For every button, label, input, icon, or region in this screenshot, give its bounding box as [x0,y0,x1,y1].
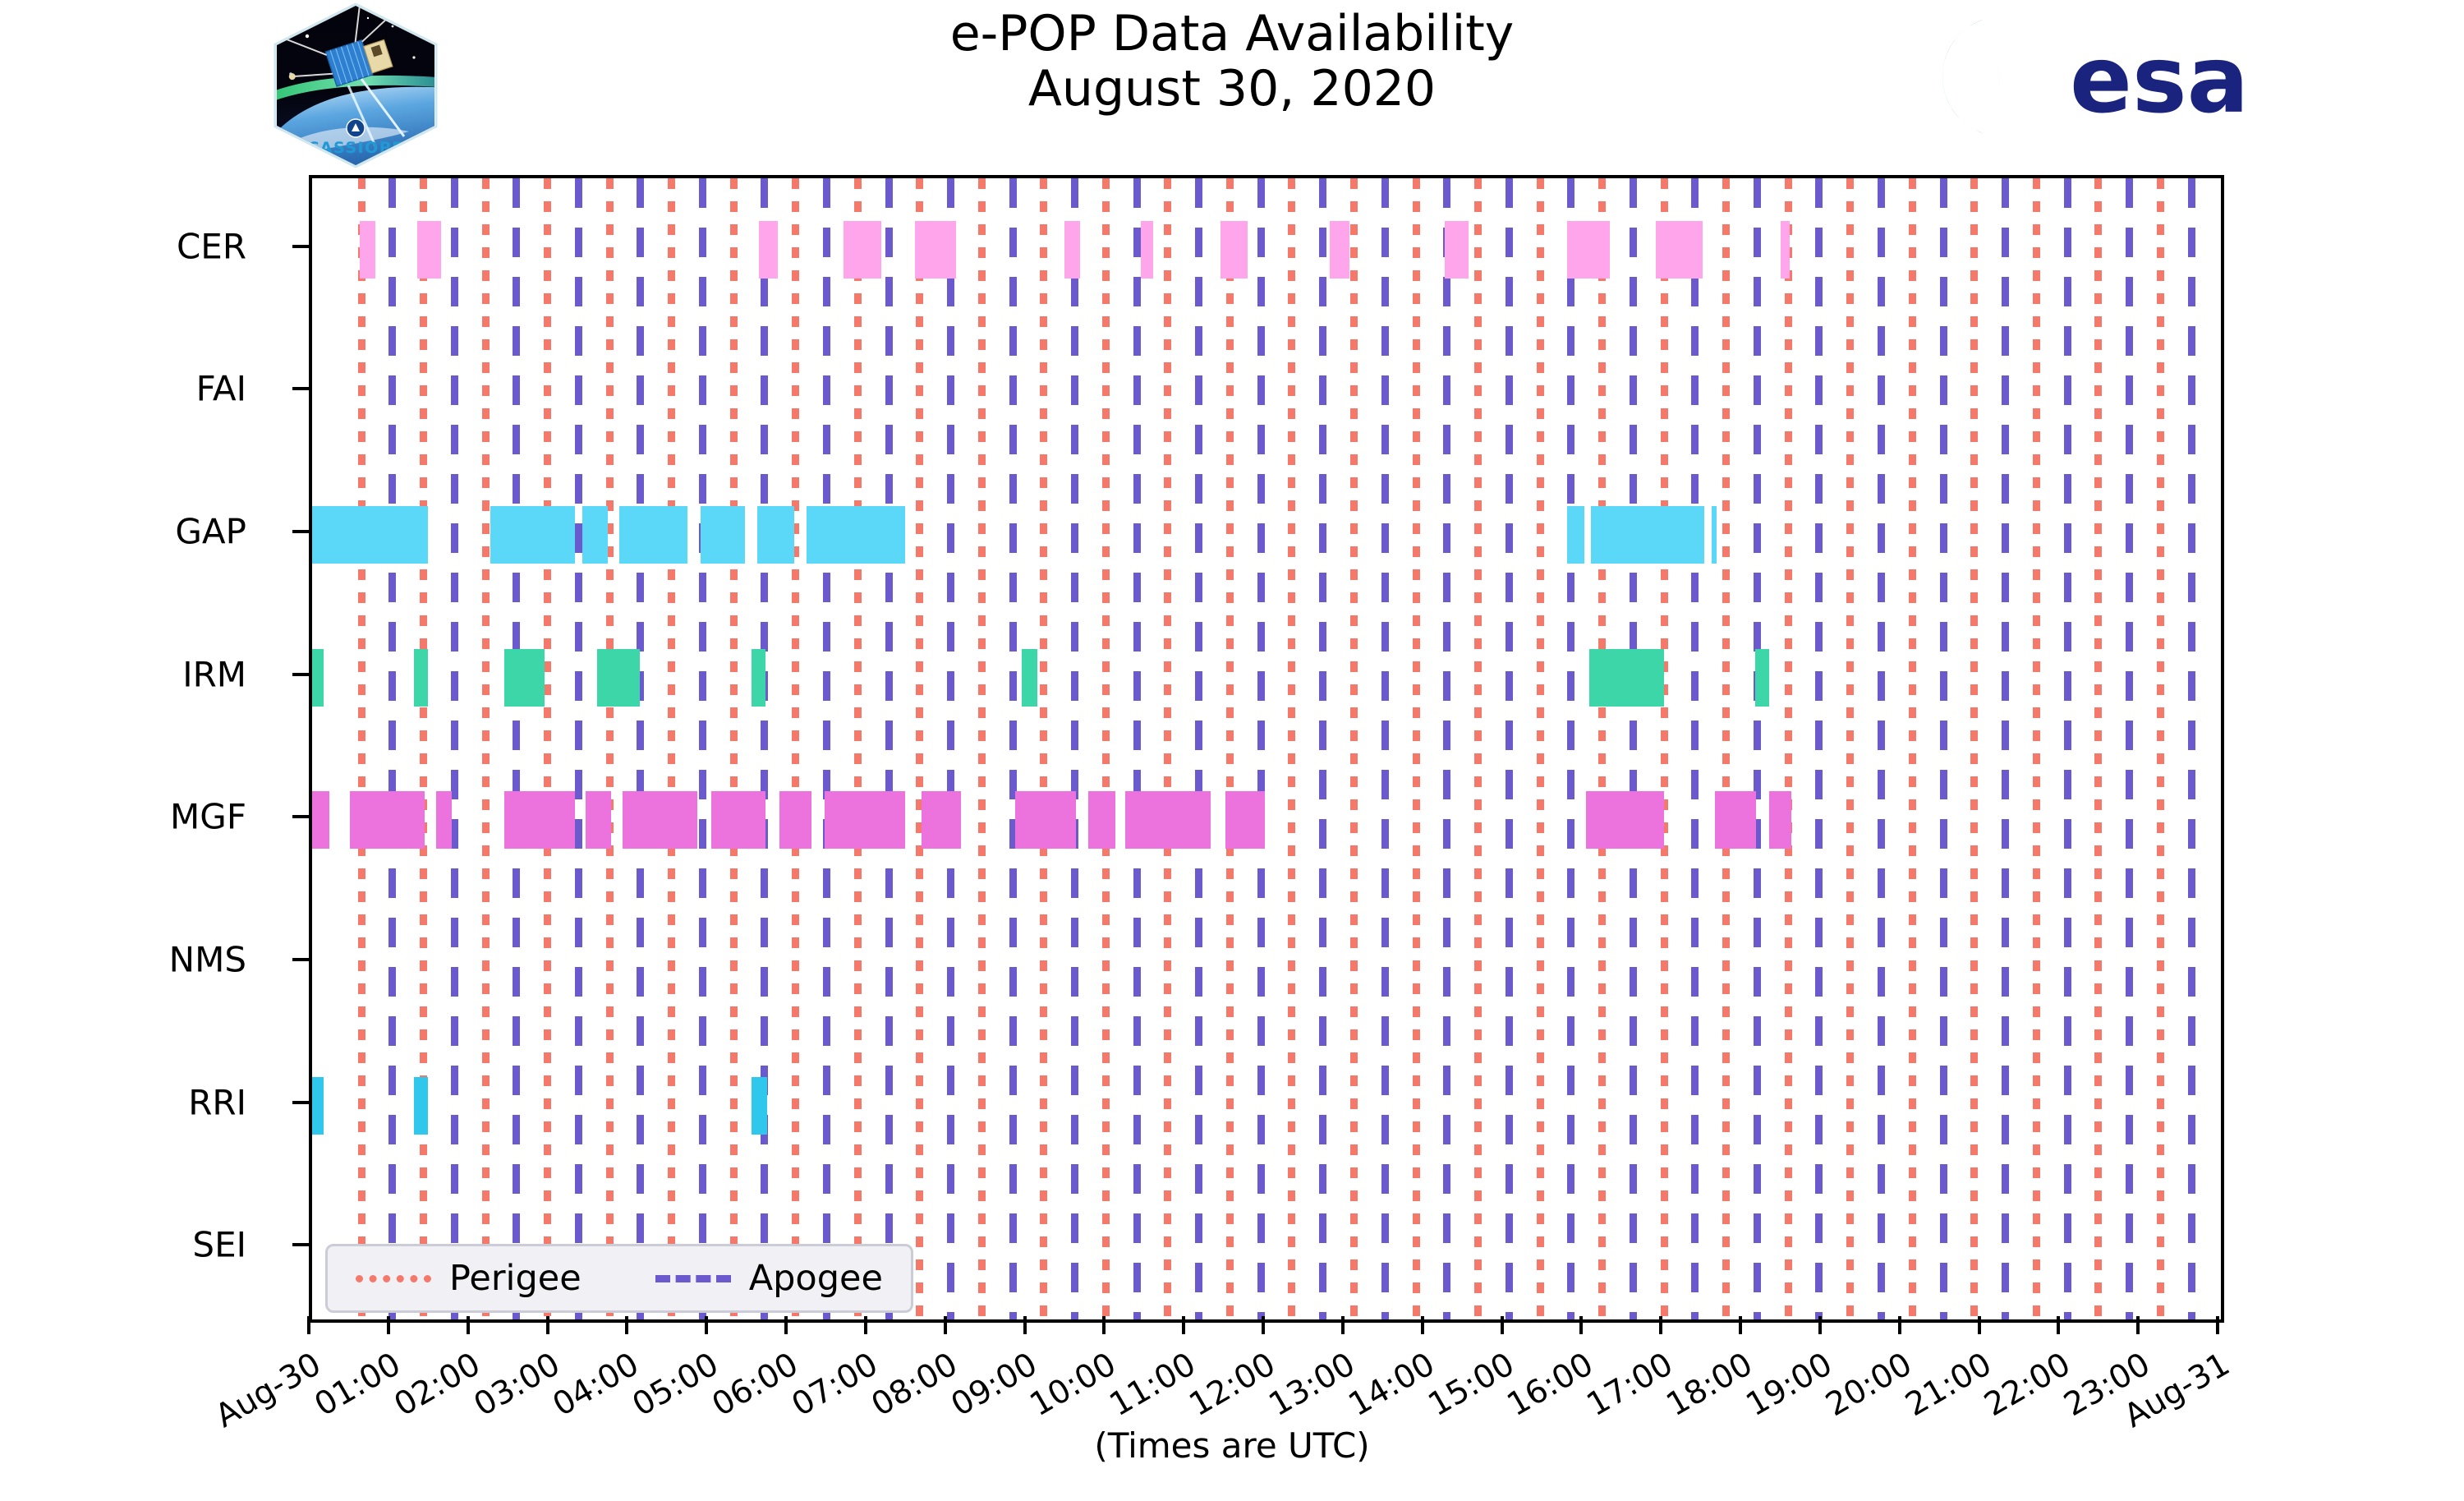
esa-logo-icon: esa [1938,15,2308,138]
perigee-line [1164,178,1171,1319]
apogee-line [1691,178,1699,1319]
availability-bar-cer [1445,221,1469,279]
perigee-line [1288,178,1295,1319]
x-tick-mark [1898,1316,1901,1334]
x-tick-mark [2216,1316,2219,1334]
availability-bar-cer [360,221,375,279]
availability-bar-rri [752,1077,767,1135]
x-tick-mark [864,1316,867,1334]
legend-label-perigee: Perigee [449,1258,582,1299]
perigee-line [854,178,862,1319]
availability-bar-cer [844,221,881,279]
availability-bar-mgf [1125,791,1211,849]
x-tick-mark [1579,1316,1583,1334]
apogee-line [823,178,830,1319]
perigee-line [1413,178,1420,1319]
x-tick-mark [944,1316,947,1334]
cassiope-logo-wordmark: CASSIOPE [307,139,403,157]
availability-bar-cer [759,221,778,279]
availability-bar-mgf [350,791,425,849]
availability-bar-gap [312,506,428,564]
y-tick-mark [292,1243,310,1246]
availability-bar-mgf [436,791,452,849]
availability-bar-mgf [1715,791,1756,849]
perigee-line [1846,178,1854,1319]
perigee-line [1102,178,1110,1319]
availability-bar-cer [915,221,956,279]
apogee-line [1878,178,1885,1319]
y-tick-label-sei: SEI [192,1225,246,1265]
x-tick-mark [1421,1316,1424,1334]
y-tick-mark [292,530,310,533]
perigee-line-swatch-icon [356,1275,431,1282]
perigee-line [420,178,427,1319]
availability-bar-mgf [504,791,574,849]
availability-bar-irm [312,649,324,707]
availability-bar-gap [1712,506,1717,564]
availability-bar-mgf [825,791,906,849]
x-tick-mark [1739,1316,1742,1334]
apogee-line [1815,178,1823,1319]
perigee-line [1474,178,1482,1319]
apogee-line [1443,178,1450,1319]
x-tick-mark [546,1316,549,1334]
availability-bar-gap [807,506,905,564]
apogee-line [575,178,582,1319]
x-tick-mark [307,1316,310,1334]
apogee-line [637,178,644,1319]
perigee-line [544,178,551,1319]
apogee-line [2126,178,2133,1319]
y-tick-mark [292,245,310,248]
availability-bar-irm [504,649,544,707]
apogee-line [1071,178,1078,1319]
apogee-line [1195,178,1202,1319]
availability-bar-irm [414,649,428,707]
perigee-line [1598,178,1606,1319]
perigee-line [730,178,738,1319]
x-tick-mark [1262,1316,1265,1334]
availability-bar-irm [1755,649,1769,707]
availability-bar-rri [414,1077,428,1135]
apogee-line [451,178,458,1319]
esa-wordmark: esa [2070,27,2249,134]
x-tick-mark [1501,1316,1504,1334]
x-tick-mark [1182,1316,1185,1334]
legend-entry-apogee: Apogee [655,1258,883,1299]
perigee-line [1226,178,1234,1319]
perigee-line [978,178,986,1319]
perigee-line [792,178,799,1319]
x-tick-mark [1978,1316,1981,1334]
perigee-line [1537,178,1544,1319]
perigee-line [358,178,365,1319]
legend-entry-perigee: Perigee [356,1258,582,1299]
availability-bar-gap [1591,506,1704,564]
perigee-line [1661,178,1668,1319]
x-tick-mark [705,1316,708,1334]
apogee-line [885,178,893,1319]
perigee-line [606,178,614,1319]
apogee-line [947,178,954,1319]
availability-bar-cer [1330,221,1349,279]
perigee-line [916,178,923,1319]
y-tick-mark [292,673,310,676]
availability-bar-mgf [1088,791,1115,849]
availability-bar-gap [1567,506,1584,564]
apogee-line [699,178,706,1319]
x-axis-caption: (Times are UTC) [0,1425,2464,1466]
x-tick-mark [625,1316,628,1334]
availability-bar-cer [1567,221,1610,279]
perigee-line [2094,178,2102,1319]
y-tick-label-gap: GAP [175,512,246,552]
page-header: CASSIOPE e-POP Data Availability August … [0,0,2464,173]
apogee-line [2188,178,2195,1319]
availability-bar-mgf [922,791,961,849]
apogee-line [1630,178,1637,1319]
x-tick-mark [467,1316,470,1334]
availability-bar-mgf [779,791,811,849]
x-tick-mark [1341,1316,1345,1334]
x-tick-mark [2057,1316,2060,1334]
apogee-line [1506,178,1513,1319]
x-tick-mark [1818,1316,1822,1334]
availability-bar-mgf [1225,791,1265,849]
availability-bar-gap [757,506,794,564]
availability-bar-mgf [586,791,611,849]
y-tick-mark [292,387,310,390]
x-tick-mark [1102,1316,1106,1334]
legend-label-apogee: Apogee [749,1258,883,1299]
plot-area [312,178,2221,1319]
perigee-line [2157,178,2164,1319]
apogee-line [388,178,396,1319]
apogee-line [2064,178,2071,1319]
availability-bar-gap [619,506,687,564]
chart-legend: Perigee Apogee [325,1244,913,1313]
apogee-line [1257,178,1265,1319]
apogee-line [1754,178,1761,1319]
availability-bar-mgf [623,791,697,849]
apogee-line [1381,178,1389,1319]
availability-bar-mgf [312,791,329,849]
availability-bar-gap [701,506,745,564]
y-tick-label-rri: RRI [188,1082,246,1122]
availability-bar-cer [1064,221,1080,279]
apogee-line [1009,178,1017,1319]
apogee-line [1940,178,1947,1319]
y-tick-label-fai: FAI [196,369,246,409]
availability-bar-rri [312,1077,324,1135]
x-tick-mark [1659,1316,1662,1334]
perigee-line [1785,178,1792,1319]
apogee-line [1319,178,1326,1319]
availability-bar-cer [1656,221,1702,279]
availability-bar-cer [417,221,441,279]
apogee-line-swatch-icon [655,1275,731,1282]
x-tick-mark [387,1316,390,1334]
x-tick-mark [784,1316,788,1334]
x-tick-mark [2136,1316,2140,1334]
availability-bar-mgf [1769,791,1791,849]
perigee-line [1970,178,1978,1319]
availability-bar-irm [1589,649,1664,707]
availability-bar-irm [1022,649,1037,707]
y-tick-label-cer: CER [177,226,246,266]
availability-bar-cer [1141,221,1153,279]
availability-bar-mgf [1586,791,1664,849]
apogee-line [1133,178,1141,1319]
y-tick-label-nms: NMS [169,939,246,979]
availability-bar-mgf [1015,791,1076,849]
apogee-line [1567,178,1574,1319]
y-tick-mark [292,958,310,961]
apogee-line [2002,178,2009,1319]
perigee-line [1040,178,1047,1319]
y-tick-mark [292,815,310,818]
availability-bar-irm [597,649,640,707]
y-tick-mark [292,1101,310,1104]
perigee-line [482,178,490,1319]
availability-bar-cer [1221,221,1248,279]
y-tick-label-mgf: MGF [170,797,246,837]
perigee-line [1350,178,1358,1319]
y-tick-label-irm: IRM [182,654,246,694]
perigee-line [668,178,675,1319]
availability-chart [309,175,2224,1323]
perigee-line [2033,178,2040,1319]
availability-bar-irm [752,649,765,707]
availability-bar-mgf [711,791,765,849]
x-tick-mark [1023,1316,1027,1334]
perigee-line [1909,178,1916,1319]
apogee-line [761,178,768,1319]
perigee-line [1722,178,1730,1319]
availability-bar-cer [1781,221,1791,279]
apogee-line [513,178,520,1319]
availability-bar-gap [582,506,608,564]
availability-bar-gap [490,506,575,564]
